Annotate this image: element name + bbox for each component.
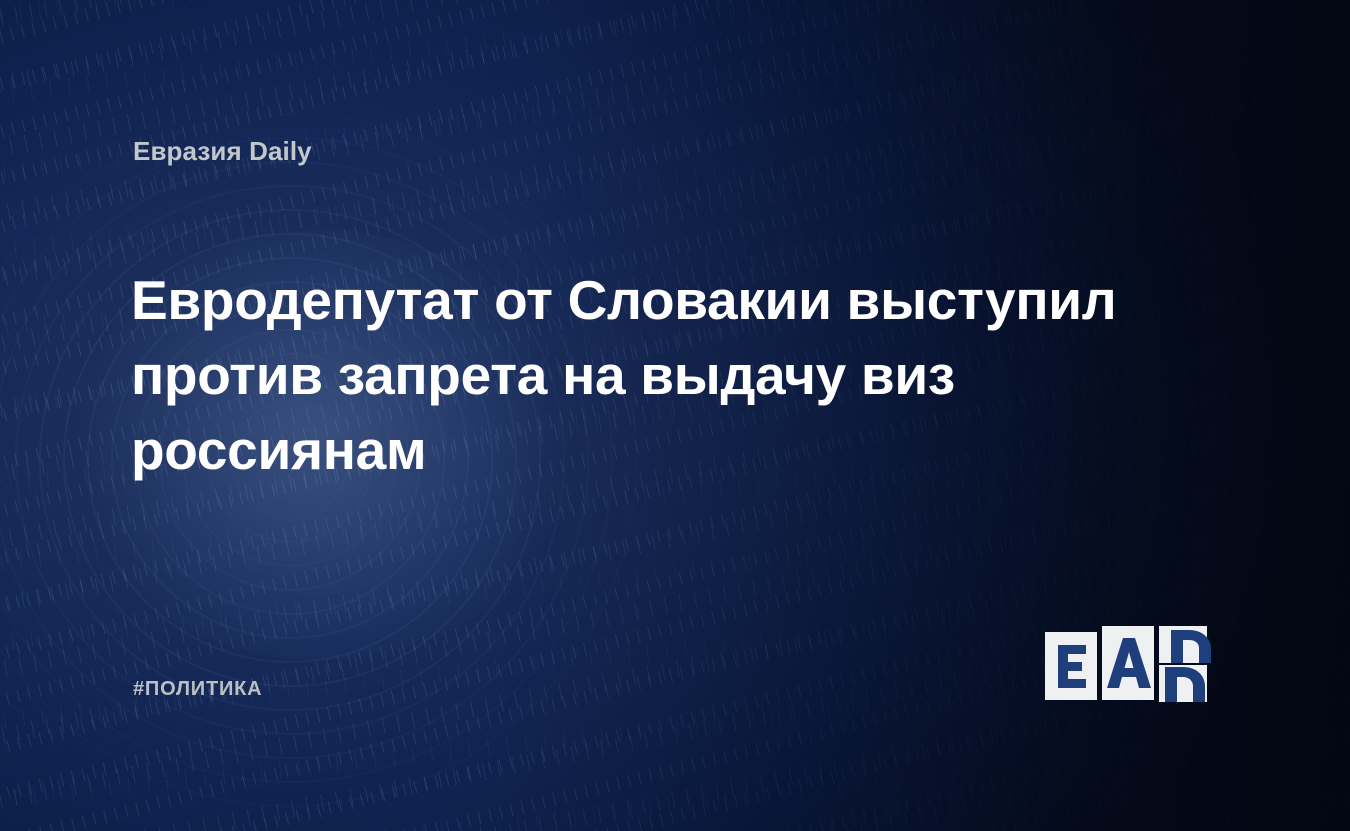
brand-name: Евразия Daily bbox=[133, 136, 312, 167]
page-title: Евродепутат от Словакии выступил против … bbox=[131, 263, 1121, 487]
eadaily-logo bbox=[1043, 622, 1225, 708]
logo-letter-e bbox=[1058, 645, 1086, 688]
category-tag: #ПОЛИТИКА bbox=[133, 678, 262, 701]
news-card: Евразия Daily Евродепутат от Словакии вы… bbox=[0, 0, 1350, 831]
eadaily-logo-mark bbox=[1043, 622, 1225, 708]
card-content: Евразия Daily Евродепутат от Словакии вы… bbox=[0, 0, 1350, 831]
headline-text: Евродепутат от Словакии выступил против … bbox=[131, 269, 1116, 481]
